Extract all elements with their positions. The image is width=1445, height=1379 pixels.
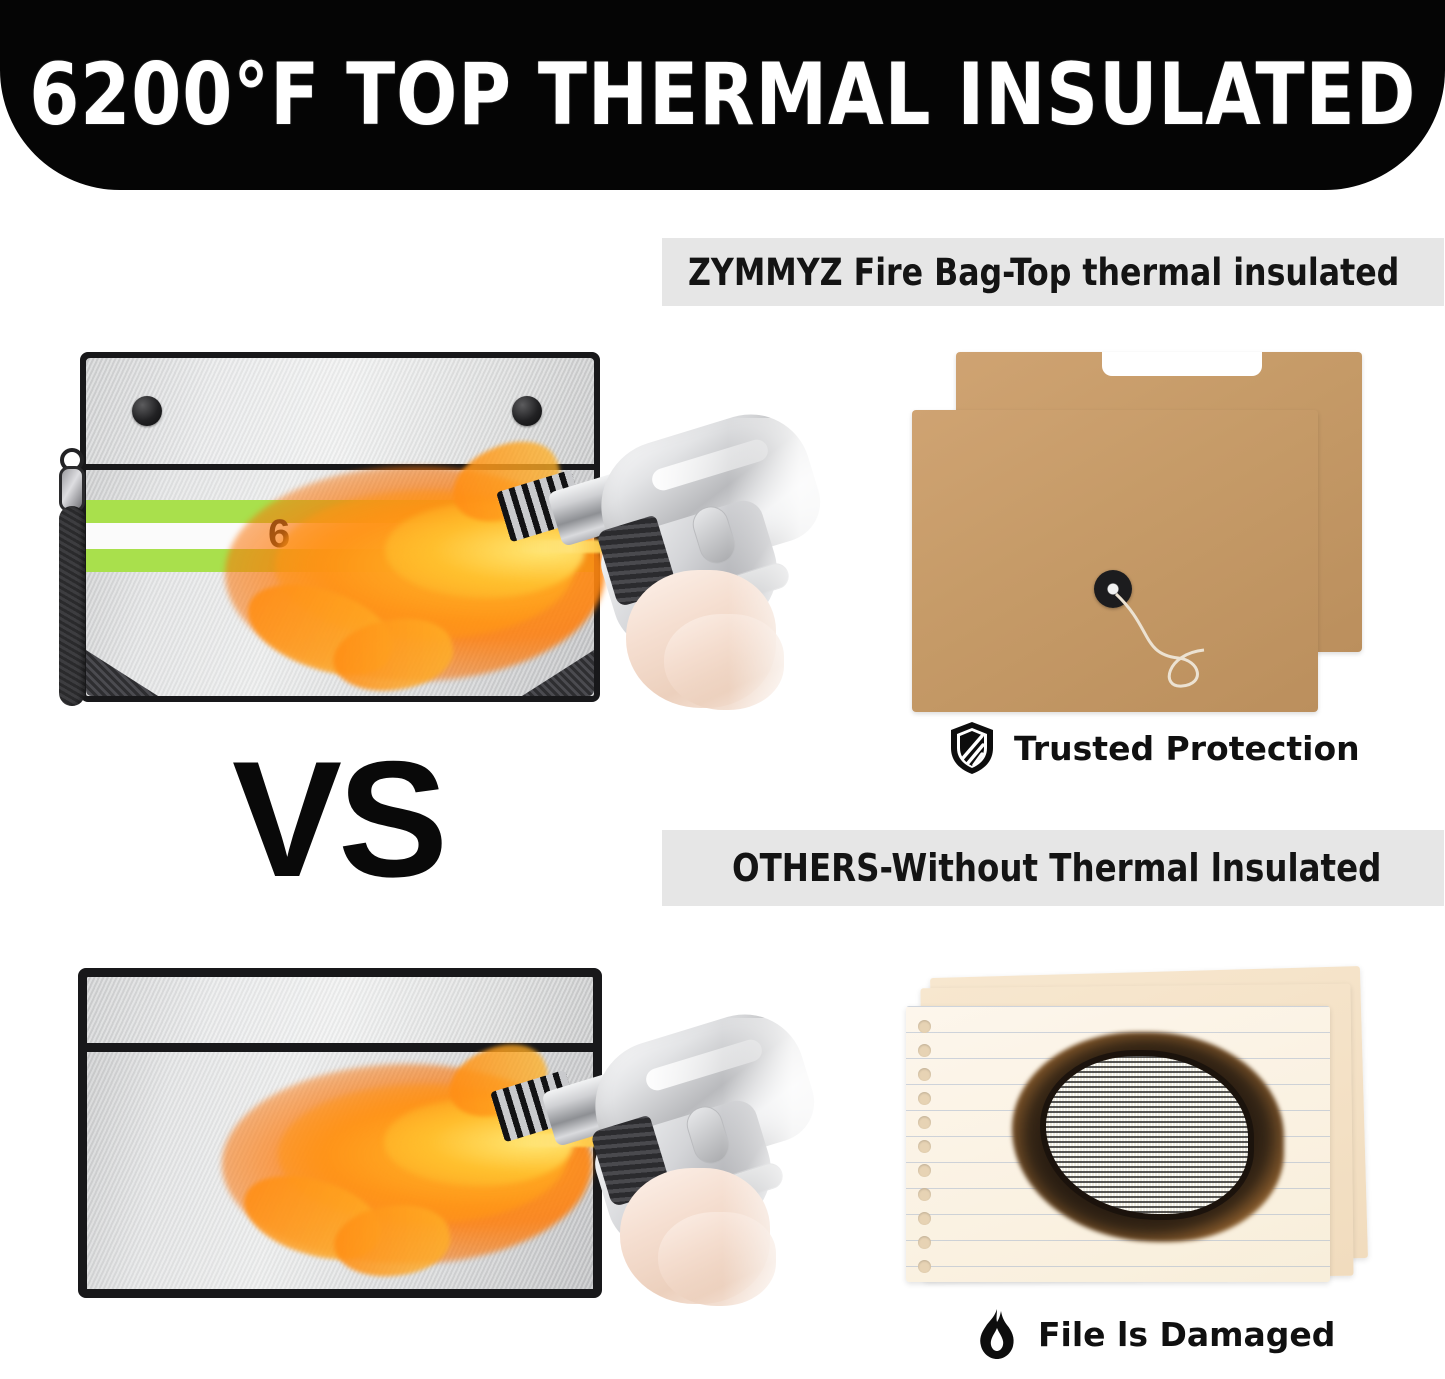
wrist-strap <box>46 448 106 708</box>
shield-icon <box>948 720 996 776</box>
panel-label-zymmyz-text: ZYMMYZ Fire Bag-Top thermal insulated <box>688 251 1399 294</box>
butane-torch-bottom <box>470 1018 830 1308</box>
envelope-string <box>1108 588 1238 698</box>
kraft-envelopes-group <box>912 352 1362 712</box>
flame-icon <box>974 1308 1020 1360</box>
strap-loop <box>59 506 85 706</box>
caption-file-damaged: File ls Damaged <box>974 1308 1335 1360</box>
burned-documents-group <box>900 972 1370 1302</box>
panel-label-others: OTHERS-Without Thermal lnsulated <box>662 830 1444 906</box>
vs-label: VS <box>232 737 444 902</box>
caption-trusted-protection: Trusted Protection <box>948 720 1360 776</box>
butane-torch-top <box>478 418 838 718</box>
snap-button-left <box>132 396 162 426</box>
panel-label-zymmyz: ZYMMYZ Fire Bag-Top thermal insulated <box>662 238 1444 306</box>
caption-file-damaged-text: File ls Damaged <box>1038 1315 1335 1354</box>
caption-trusted-protection-text: Trusted Protection <box>1014 729 1360 768</box>
header-title: 6200°F TOP THERMAL INSULATED <box>29 45 1416 145</box>
panel-label-others-text: OTHERS-Without Thermal lnsulated <box>732 846 1381 890</box>
header-banner: 6200°F TOP THERMAL INSULATED <box>0 0 1445 190</box>
